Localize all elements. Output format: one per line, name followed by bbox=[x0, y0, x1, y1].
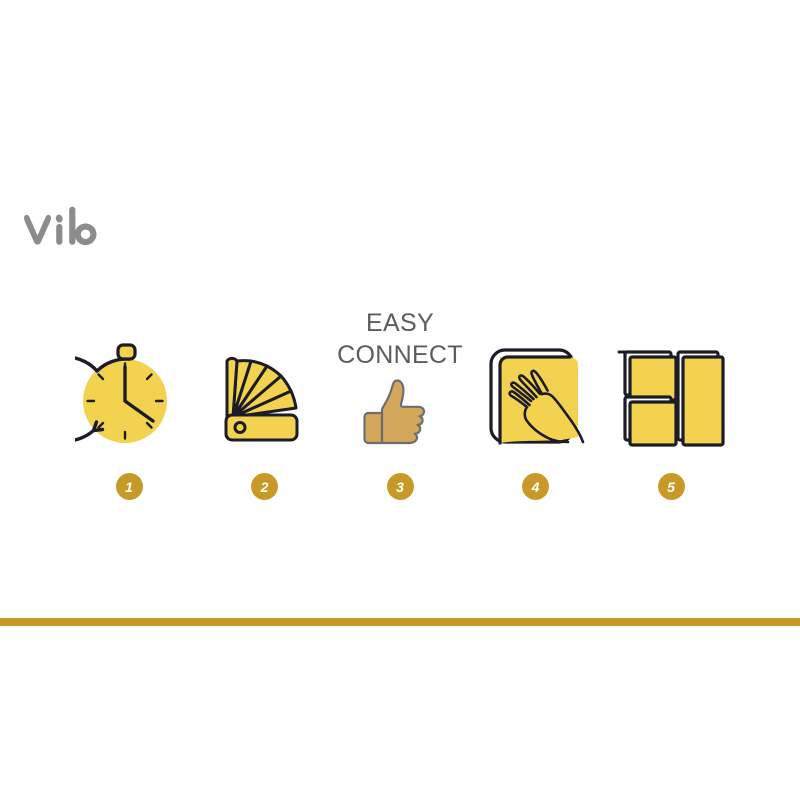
vilo-wordmark-icon bbox=[22, 204, 118, 248]
step-5-artwork bbox=[612, 301, 730, 451]
panel-layout-icon bbox=[615, 339, 727, 451]
step-badge-5: 5 bbox=[658, 473, 685, 500]
slide-canvas: 1 bbox=[0, 0, 800, 800]
swatch-fan-icon bbox=[211, 339, 319, 451]
step-item-3[interactable]: EASY CONNECT 3 bbox=[341, 301, 459, 500]
step-item-1[interactable]: 1 bbox=[70, 301, 188, 500]
step-item-4[interactable]: 4 bbox=[477, 301, 595, 500]
steps-row: 1 bbox=[70, 300, 730, 500]
step-badge-4: 4 bbox=[522, 473, 549, 500]
stopwatch-icon bbox=[75, 339, 183, 451]
hand-press-panel-icon bbox=[480, 339, 592, 451]
step-item-5[interactable]: 5 bbox=[612, 301, 730, 500]
step-4-artwork bbox=[477, 301, 595, 451]
step-badge-2: 2 bbox=[251, 473, 278, 500]
step-badge-3: 3 bbox=[387, 473, 414, 500]
brand-logo bbox=[22, 198, 202, 254]
footer-rule bbox=[0, 618, 800, 626]
step-badge-1: 1 bbox=[116, 473, 143, 500]
step-1-artwork bbox=[70, 301, 188, 451]
thumbs-up-icon bbox=[346, 373, 454, 451]
step-3-artwork bbox=[341, 301, 459, 451]
